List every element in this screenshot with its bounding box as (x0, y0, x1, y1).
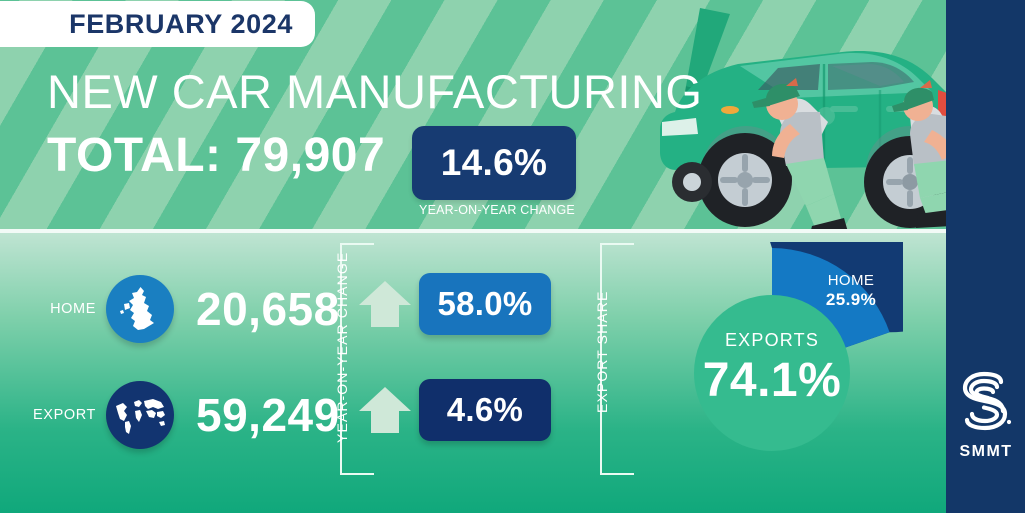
header-yoy-badge: 14.6% (412, 126, 576, 200)
infographic-root: FEBRUARY 2024 NEW CAR MANUFACTURING TOTA… (0, 0, 1025, 513)
arrow-up-icon-export (357, 383, 413, 439)
change-badge-home: 58.0% (419, 273, 551, 335)
uk-map-shape (118, 285, 162, 333)
stat-row-export: EXPORT 59,249 (18, 381, 340, 449)
month-badge-label: FEBRUARY 2024 (69, 9, 293, 40)
total-value: TOTAL: 79,907 (47, 128, 385, 183)
stat-row-home: HOME 20,658 (18, 275, 340, 343)
export-share-donut-chart: HOME 25.9% EXPORTS 74.1% (641, 242, 903, 504)
body-panel: HOME 20,658 EXPORT (0, 233, 1025, 513)
donut-svg (641, 242, 903, 504)
header-yoy-value: 14.6% (441, 142, 547, 184)
stat-row-export-label: EXPORT (18, 407, 96, 423)
yoy-bracket-label: YEAR-ON-YEAR CHANGE (334, 252, 350, 443)
change-badge-export-value: 4.6% (447, 391, 523, 429)
uk-map-icon (106, 275, 174, 343)
smmt-logo-text: SMMT (955, 443, 1017, 461)
stat-row-home-label: HOME (18, 301, 96, 317)
page-title: NEW CAR MANUFACTURING (47, 64, 702, 119)
smmt-logo: SMMT (955, 370, 1017, 461)
smmt-s-logo-icon (957, 370, 1015, 434)
header-panel: FEBRUARY 2024 NEW CAR MANUFACTURING TOTA… (0, 0, 1025, 233)
header-yoy-caption: YEAR-ON-YEAR CHANGE (412, 203, 582, 217)
month-badge: FEBRUARY 2024 (0, 1, 315, 47)
arrow-up-icon-home (357, 277, 413, 333)
globe-icon (106, 381, 174, 449)
stat-row-export-value: 59,249 (196, 388, 340, 442)
change-badge-home-value: 58.0% (437, 285, 532, 323)
export-share-bracket-label: EXPORT SHARE (594, 291, 610, 413)
change-badge-export: 4.6% (419, 379, 551, 441)
globe-shape (109, 384, 171, 446)
stat-row-home-value: 20,658 (196, 282, 340, 336)
